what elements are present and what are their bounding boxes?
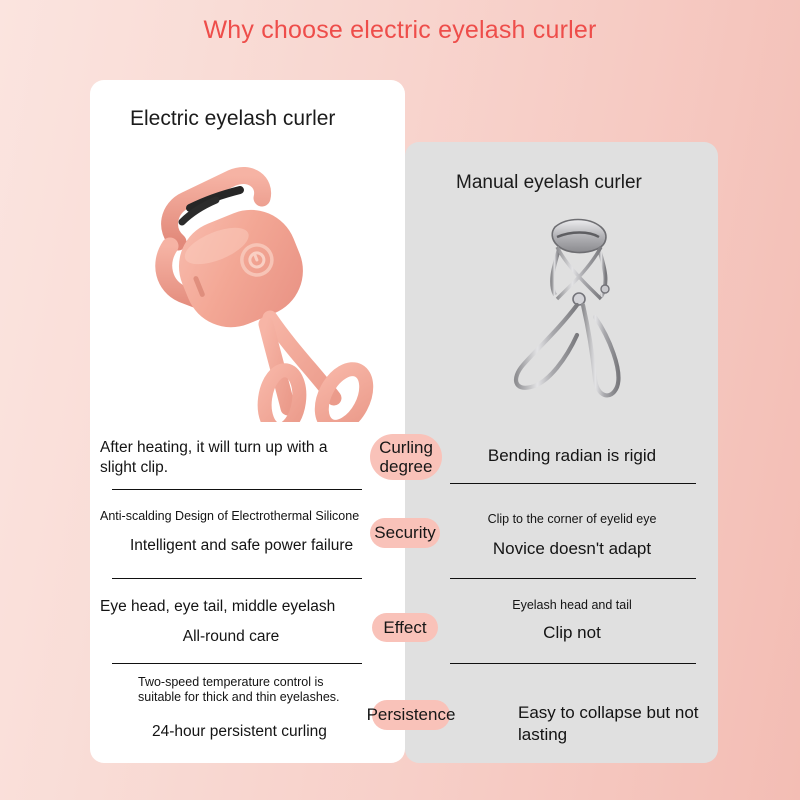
row-1-left-big: After heating, it will turn up with a sl… xyxy=(100,438,362,478)
badge-curling-degree[interactable]: Curling degree xyxy=(370,434,442,480)
badge-persistence[interactable]: Persistence xyxy=(372,700,450,730)
badge-effect[interactable]: Effect xyxy=(372,613,438,642)
badge-label: Curling degree xyxy=(370,438,442,476)
row-2-right-big: Novice doesn't adapt xyxy=(443,538,701,560)
row-3-right-small: Eyelash head and tail xyxy=(443,598,701,613)
row-2-left-divider xyxy=(112,578,362,579)
row-2-right-divider xyxy=(450,578,696,579)
row-2-left-big: Intelligent and safe power failure xyxy=(130,536,362,556)
row-3-left-divider xyxy=(112,663,362,664)
row-1-left-divider xyxy=(112,489,362,490)
row-3-left-small: Eye head, eye tail, middle eyelash xyxy=(100,597,370,617)
row-2-right-small: Clip to the corner of eyelid eye xyxy=(443,512,701,527)
row-4-left-small: Two-speed temperature control is suitabl… xyxy=(138,675,362,706)
badge-label: Effect xyxy=(383,618,426,637)
badge-label: Security xyxy=(374,523,435,542)
row-1-right-divider xyxy=(450,483,696,484)
row-3-right-divider xyxy=(450,663,696,664)
row-4-right-big: Easy to collapse but not lasting xyxy=(518,702,703,746)
row-4-left-big: 24-hour persistent curling xyxy=(152,722,382,742)
row-2-left-small: Anti-scalding Design of Electrothermal S… xyxy=(100,509,362,524)
row-3-left-big: All-round care xyxy=(100,627,362,647)
row-3-right-big: Clip not xyxy=(443,622,701,644)
badge-label: Persistence xyxy=(367,705,456,724)
badge-security[interactable]: Security xyxy=(370,518,440,548)
comparison-table: After heating, it will turn up with a sl… xyxy=(0,0,800,800)
row-1-right-big: Bending radian is rigid xyxy=(443,445,701,467)
infographic-page: Why choose electric eyelash curler Elect… xyxy=(0,0,800,800)
